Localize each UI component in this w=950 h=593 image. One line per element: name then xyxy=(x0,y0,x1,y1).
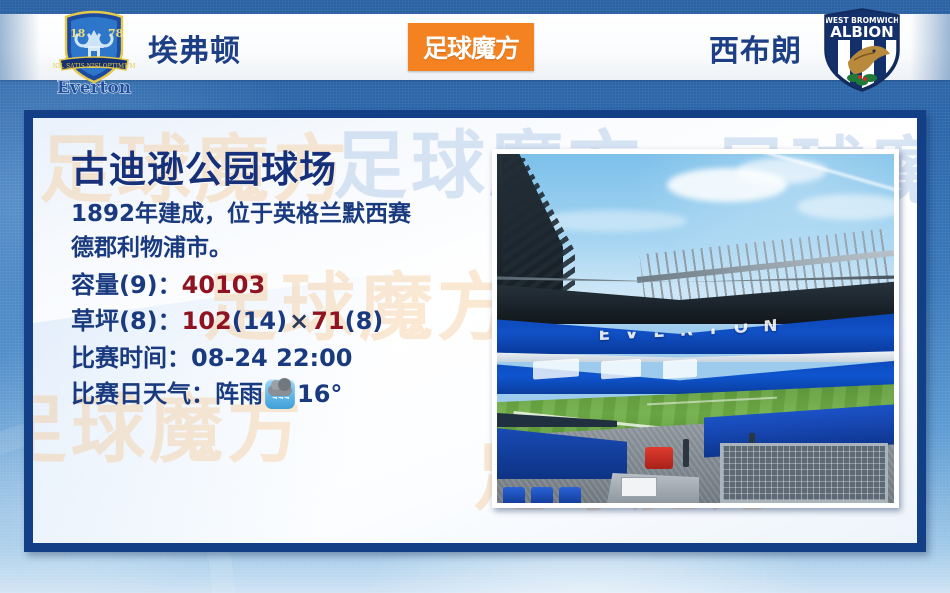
away-team-name: 西布朗 xyxy=(709,26,802,70)
pitch-separator: ： xyxy=(158,307,182,335)
pitch-row: 草坪(8)：102(14)×71(8) xyxy=(71,303,501,339)
capacity-separator: ： xyxy=(158,271,182,299)
goodison-park-photo: EVERTON xyxy=(492,149,899,508)
home-team-name: 埃弗顿 xyxy=(148,26,241,70)
venue-info: 古迪逊公园球场 1892年建成，位于英格兰默西赛 德郡利物浦市。 容量(9)：4… xyxy=(71,148,501,413)
svg-text:NIL SATIS NISI OPTIMUM: NIL SATIS NISI OPTIMUM xyxy=(53,63,136,70)
everton-crest-icon: 18 78 NIL SATIS NISI OPTIMUM Everton xyxy=(46,4,142,96)
content-panel: 足球魔方 足球魔方 足球魔方 足球魔方 足球魔方 足球魔方 足球魔方 古迪逊公园… xyxy=(33,118,917,543)
pitch-label: 草坪(8) xyxy=(71,307,158,335)
venue-description-line-1: 1892年建成，位于英格兰默西赛 xyxy=(71,198,501,231)
venue-title: 古迪逊公园球场 xyxy=(71,148,501,192)
weather-label: 比赛日天气 xyxy=(71,380,191,408)
site-logo-text: 足球魔方 xyxy=(423,29,519,65)
stadium-image: EVERTON xyxy=(497,154,894,503)
notice-plate xyxy=(621,477,657,497)
content-frame: 足球魔方 足球魔方 足球魔方 足球魔方 足球魔方 足球魔方 足球魔方 古迪逊公园… xyxy=(24,110,926,552)
capacity-label: 容量(9) xyxy=(71,271,158,299)
weather-separator: ： xyxy=(191,380,215,408)
pitch-width: 71 xyxy=(311,307,344,335)
foreground-seat xyxy=(531,487,553,503)
capacity-value: 40103 xyxy=(182,271,266,299)
left-roof-truss xyxy=(503,158,575,308)
foreground-seat xyxy=(503,487,525,503)
site-logo[interactable]: 足球魔方 xyxy=(408,23,534,71)
red-cable-drum xyxy=(645,447,673,469)
cloud-shape xyxy=(737,158,827,184)
weather-condition: 阵雨 xyxy=(215,380,263,408)
svg-text:Everton: Everton xyxy=(57,78,131,96)
svg-text:18: 18 xyxy=(70,27,86,40)
seat-block-white xyxy=(663,359,697,379)
pitch-width-rank: (8) xyxy=(345,307,384,335)
weather-temperature: 16° xyxy=(297,380,342,408)
cloud-shape xyxy=(797,194,894,220)
west-bromwich-albion-crest-icon: WEST BROMWICH ALBION xyxy=(814,4,910,96)
seat-block-white xyxy=(601,359,641,380)
rain-shower-icon xyxy=(265,379,295,409)
svg-text:ALBION: ALBION xyxy=(830,23,894,41)
weather-row: 比赛日天气：阵雨16° xyxy=(71,376,501,412)
bollard xyxy=(683,439,689,467)
pitch-length-rank: (14) xyxy=(232,307,287,335)
match-header: 18 78 NIL SATIS NISI OPTIMUM Everton 埃弗顿… xyxy=(0,0,950,98)
venue-description-line-2: 德郡利物浦市。 xyxy=(71,232,501,265)
mesh-fence xyxy=(720,443,888,503)
svg-text:78: 78 xyxy=(108,27,124,40)
seat-block-white xyxy=(533,358,579,379)
match-time-row: 比赛时间：08-24 22:00 xyxy=(71,340,501,376)
match-time-value: 08-24 22:00 xyxy=(191,344,353,372)
match-time-separator: ： xyxy=(167,344,191,372)
pitch-times-symbol: × xyxy=(287,307,311,335)
capacity-row: 容量(9)：40103 xyxy=(71,267,501,303)
foreground-seat xyxy=(559,487,581,503)
pitch-length: 102 xyxy=(182,307,232,335)
app-root: 18 78 NIL SATIS NISI OPTIMUM Everton 埃弗顿… xyxy=(0,0,950,593)
match-time-label: 比赛时间 xyxy=(71,344,167,372)
